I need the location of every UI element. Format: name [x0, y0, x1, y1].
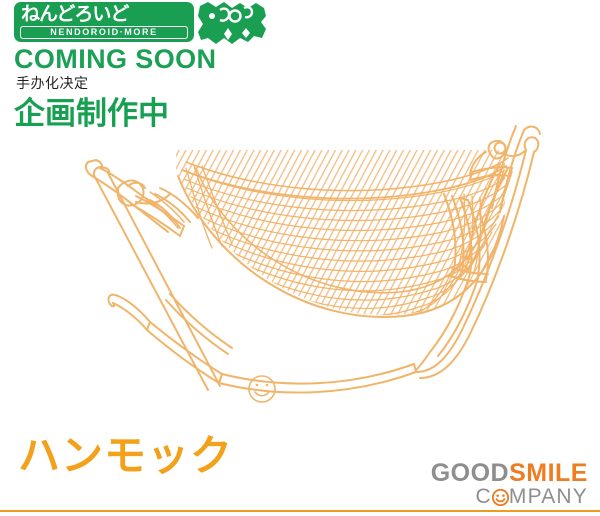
nendoroid-burst-decoration-icon: [198, 2, 268, 47]
gsc-company-suffix: MPANY: [509, 485, 588, 508]
smiley-face-icon: [492, 489, 509, 506]
gsc-logo-line1: GOODSMILE: [431, 460, 588, 486]
nendoroid-logo-kana: ねんどろいど: [21, 3, 187, 25]
bottom-divider: [0, 510, 600, 512]
stand-left-upper-arm: [86, 160, 176, 232]
chinese-status-label: 手办化决定: [16, 75, 89, 93]
nendoroid-logo-badge: ねんどろいど NENDOROID·MORE: [14, 2, 194, 42]
gsc-good-text: GOOD: [431, 459, 509, 487]
nendoroid-more-logo: ねんどろいど NENDOROID·MORE: [14, 2, 294, 44]
japanese-status-label: 企画制作中: [14, 95, 169, 133]
product-announcement-poster: ねんどろいど NENDOROID·MORE COMING SOON 手办化决定 …: [0, 0, 600, 516]
gsc-company-prefix: C: [476, 485, 492, 508]
product-name: ハンモック: [18, 430, 233, 482]
gsc-smile-text: SMILE: [509, 459, 588, 487]
good-smile-company-logo: GOODSMILE CMPANY: [413, 460, 588, 508]
gsc-logo-line2: CMPANY: [476, 485, 589, 508]
brand-header: ねんどろいど NENDOROID·MORE COMING SOON 手办化决定 …: [14, 2, 294, 44]
nendoroid-logo-romaji: NENDOROID·MORE: [20, 26, 188, 39]
coming-soon-label: COMING SOON: [14, 44, 216, 74]
